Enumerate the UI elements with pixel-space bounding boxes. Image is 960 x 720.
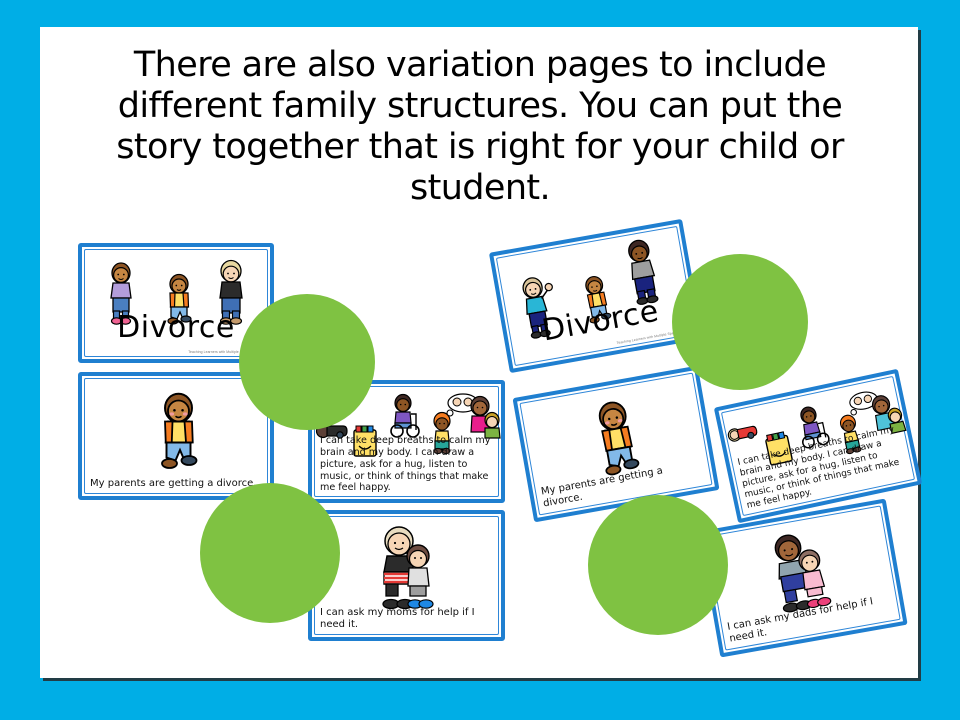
ask-dads-card[interactable]: I can ask my dads for help if I need it.: [698, 498, 907, 657]
green-circle-4: [588, 495, 728, 635]
child-walking-backpack-figure: [156, 390, 204, 474]
page-title: There are also variation pages to includ…: [100, 45, 860, 209]
card-caption: I can ask my moms for help if I need it.: [320, 607, 495, 631]
child-in-wheelchair-icon: [387, 394, 423, 438]
slide-canvas: There are also variation pages to includ…: [0, 0, 960, 720]
card-caption: I can take deep breaths to calm my brain…: [320, 435, 495, 494]
green-circle-2: [200, 483, 340, 623]
coping-strategies-card-variation[interactable]: I can take deep breaths to calm my brain…: [714, 369, 922, 524]
green-circle-1: [239, 294, 375, 430]
mom-hugging-child-figure: [374, 526, 440, 614]
green-circle-3: [672, 254, 808, 390]
ask-moms-card[interactable]: I can ask my moms for help if I need it.: [308, 510, 505, 641]
divorce-title-card-variation[interactable]: Divorce Teaching Learners with Multiple …: [489, 219, 703, 373]
card-caption: My parents are getting a divorce.: [90, 478, 264, 490]
parents-divorce-card-variation[interactable]: My parents are getting a divorce.: [512, 366, 719, 523]
